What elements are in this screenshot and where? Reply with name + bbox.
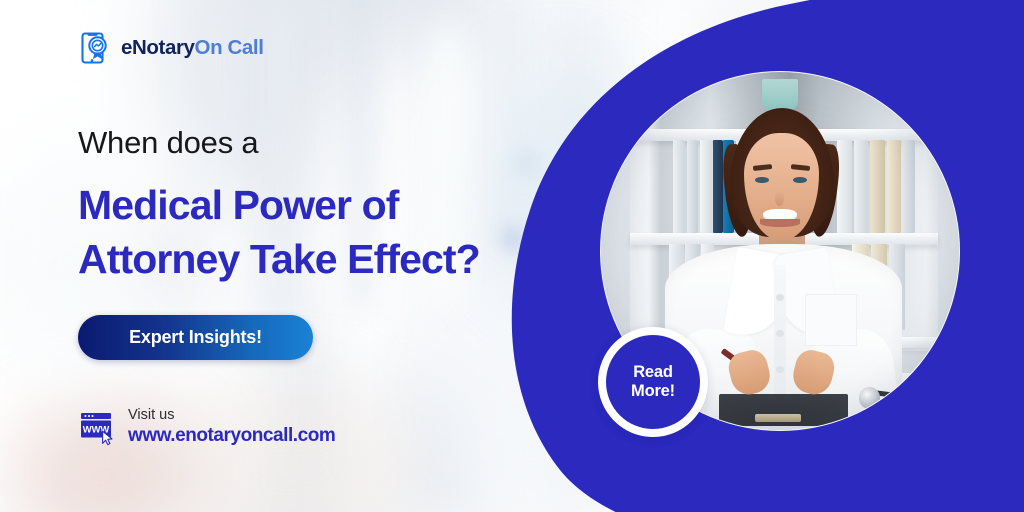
brand-name-secondary: On Call [195,36,264,59]
www-browser-cursor-icon: WWW [78,407,117,446]
headline-line-2: Attorney Take Effect? [78,232,480,286]
expert-insights-button[interactable]: Expert Insights! [78,315,313,360]
read-more-badge-inner: ReadMore! [606,335,700,429]
brand-name-primary: eNotary [121,36,195,59]
headline-line-1: Medical Power of [78,182,399,228]
mobile-notary-seal-icon [78,31,112,65]
visit-us-block[interactable]: WWW Visit us www.enotaryoncall.com [78,406,335,447]
page-title: Medical Power of Attorney Take Effect? [78,178,480,286]
visit-us-text: Visit us www.enotaryoncall.com [128,406,335,447]
read-more-badge[interactable]: ReadMore! [598,327,708,437]
content-column: eNotaryOn Call When does a Medical Power… [78,0,548,512]
brand-name: eNotaryOn Call [121,36,264,60]
read-more-text: ReadMore! [631,363,675,402]
visit-us-label: Visit us [128,406,335,424]
promo-banner: ReadMore! eNotaryOn Call When does a Med… [0,0,1024,512]
brand-logo[interactable]: eNotaryOn Call [78,31,264,65]
website-url[interactable]: www.enotaryoncall.com [128,425,335,447]
headline-eyebrow: When does a [78,126,258,160]
